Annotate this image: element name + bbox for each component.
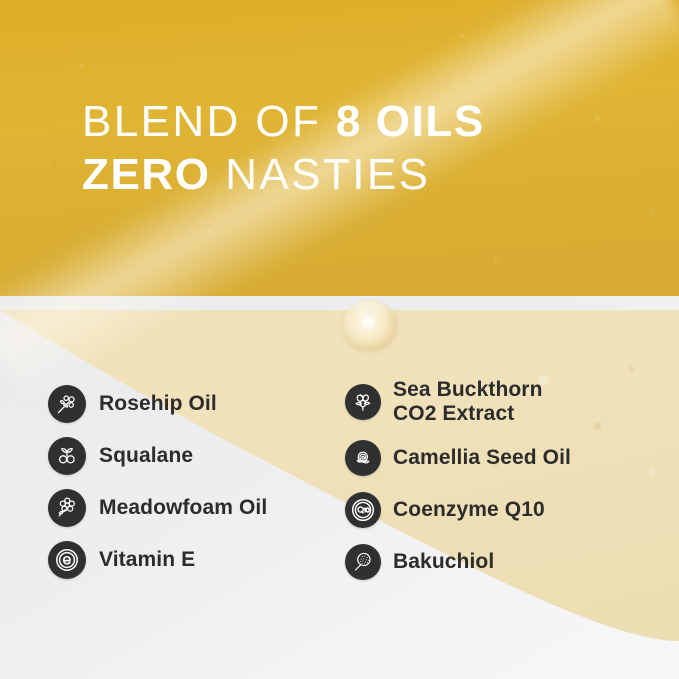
- headline-line-2-bold: ZERO: [82, 150, 211, 199]
- vitamin-e-circle-icon: [48, 541, 86, 579]
- list-item: Vitamin E: [48, 534, 267, 586]
- meadowfoam-flower-icon: [48, 489, 86, 527]
- list-item: Meadowfoam Oil: [48, 482, 267, 534]
- headline: BLEND OF 8 OILS ZERO NASTIES: [82, 96, 642, 202]
- headline-line-2-thin: NASTIES: [211, 150, 431, 199]
- headline-line-1: BLEND OF 8 OILS: [82, 96, 642, 149]
- list-item-label: Bakuchiol: [393, 550, 494, 574]
- headline-line-2: ZERO NASTIES: [82, 149, 642, 202]
- headline-line-1-thin: BLEND OF: [82, 97, 336, 146]
- list-item: Sea Buckthorn CO2 Extract: [345, 372, 571, 432]
- oil-droplet-bubble: [343, 300, 397, 350]
- list-item-label: Sea Buckthorn CO2 Extract: [393, 378, 543, 425]
- list-item: Bakuchiol: [345, 536, 571, 588]
- list-item-label: Squalane: [99, 444, 193, 468]
- ingredient-list-left: Rosehip Oil Squalane: [48, 378, 267, 586]
- list-item: Coenzyme Q10: [345, 484, 571, 536]
- ingredient-list-right: Sea Buckthorn CO2 Extract Camellia Seed …: [345, 372, 571, 588]
- product-ingredient-poster: BLEND OF 8 OILS ZERO NASTIES Rosehip Oil: [0, 0, 679, 679]
- list-item: Camellia Seed Oil: [345, 432, 571, 484]
- list-item-label: Camellia Seed Oil: [393, 446, 571, 470]
- list-item-label: Meadowfoam Oil: [99, 496, 267, 520]
- bakuchiol-seedhead-icon: [345, 544, 381, 580]
- olive-berry-icon: [48, 437, 86, 475]
- rosehip-branch-icon: [48, 385, 86, 423]
- coenzyme-q10-icon: [345, 492, 381, 528]
- list-item-label: Rosehip Oil: [99, 392, 217, 416]
- list-item-label: Coenzyme Q10: [393, 498, 545, 522]
- list-item-label: Vitamin E: [99, 548, 195, 572]
- headline-line-1-bold: 8 OILS: [336, 97, 485, 146]
- camellia-rose-icon: [345, 440, 381, 476]
- sea-buckthorn-berry-icon: [345, 384, 381, 420]
- list-item: Rosehip Oil: [48, 378, 267, 430]
- list-item: Squalane: [48, 430, 267, 482]
